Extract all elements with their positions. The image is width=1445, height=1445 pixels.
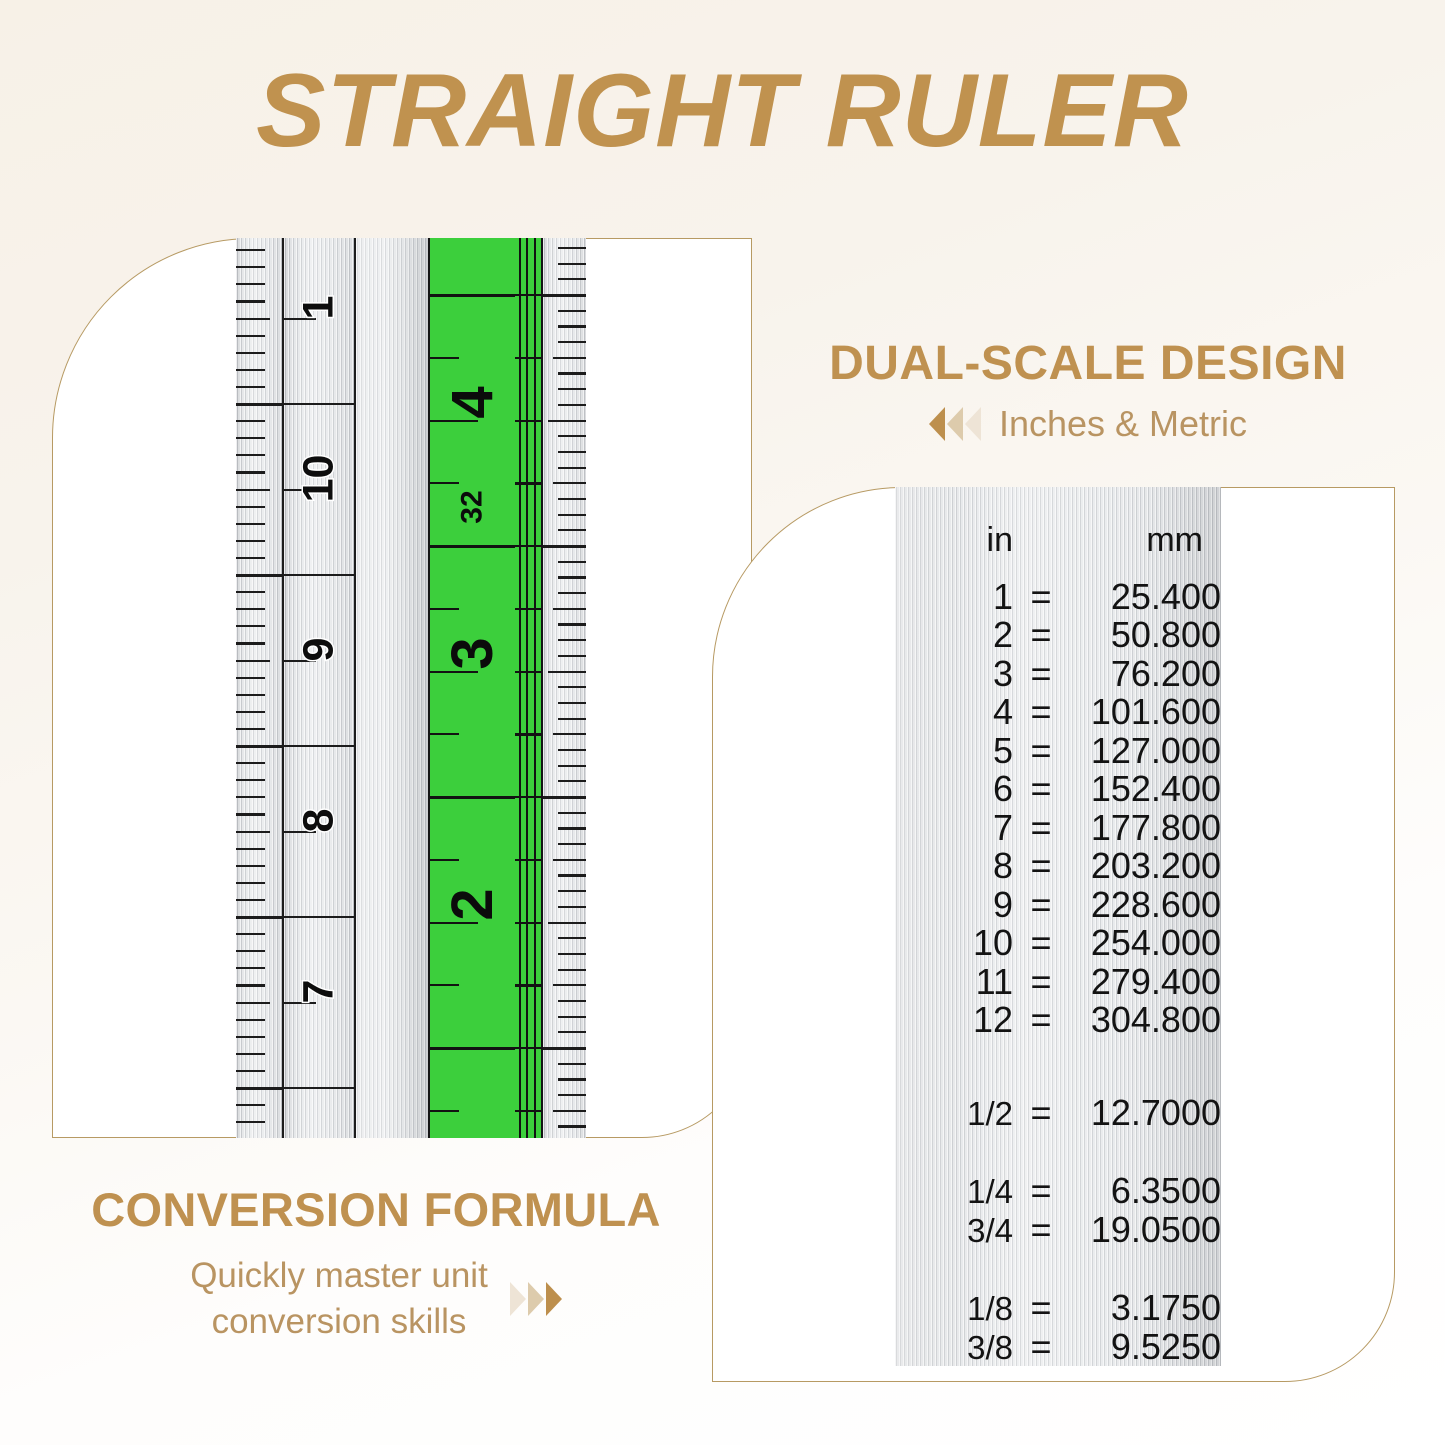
cell-inches: 3/4	[895, 1212, 1013, 1250]
sixteenth-tick	[553, 859, 586, 861]
cell-millimetres: 177.800	[1069, 807, 1221, 849]
metric-tick	[236, 318, 270, 320]
metric-tick	[236, 711, 265, 713]
metric-tick	[236, 540, 265, 542]
metric-tick	[236, 437, 265, 439]
sixteenth-tick	[558, 686, 586, 688]
metric-number: 1	[295, 273, 344, 343]
sixteenth-tick	[558, 388, 586, 390]
cell-equals: =	[1013, 1287, 1069, 1329]
table-gap	[895, 1247, 1221, 1287]
table-row: 8=203.200	[895, 845, 1221, 884]
cell-inches: 3/8	[895, 1329, 1013, 1367]
table-row: 6=152.400	[895, 768, 1221, 807]
cell-millimetres: 25.400	[1069, 576, 1221, 618]
inch-number: 3	[439, 611, 506, 696]
sixteenth-tick	[548, 922, 586, 924]
cell-inches: 1	[895, 576, 1013, 618]
chevron-right-icon	[546, 1282, 562, 1316]
conversion-table: inmm1=25.4002=50.8003=76.2004=101.6005=1…	[895, 487, 1221, 1366]
cell-millimetres: 279.400	[1069, 961, 1221, 1003]
header-millimetres: mm	[1069, 521, 1221, 560]
inch-cross-line	[515, 482, 541, 484]
sixteenth-tick	[558, 1125, 586, 1127]
sixteenth-tick	[558, 1031, 586, 1033]
metric-tick	[236, 386, 265, 388]
dual-scale-subrow: Inches & Metric	[788, 403, 1388, 445]
conversion-table-strip: inmm1=25.4002=50.8003=76.2004=101.6005=1…	[895, 487, 1221, 1366]
inch-quarter-line	[430, 733, 459, 735]
table-row: 3/8=9.5250	[895, 1326, 1221, 1365]
ruler-image: 11098765 43232	[236, 238, 586, 1138]
sixteenth-tick	[558, 263, 586, 265]
metric-tick	[236, 1036, 265, 1038]
inch-rail	[519, 238, 521, 1138]
sixteenth-tick	[558, 623, 586, 625]
cell-inches: 2	[895, 614, 1013, 656]
metric-tick	[236, 984, 265, 986]
inch-quarter-line	[430, 859, 459, 861]
metric-cm-line	[284, 403, 354, 405]
metric-tick	[236, 642, 265, 644]
chevron-right-group	[510, 1282, 562, 1316]
table-row: 12=304.800	[895, 999, 1221, 1038]
sixteenth-tick	[558, 765, 586, 767]
sixteenth-tick	[558, 937, 586, 939]
inch-cross-line	[515, 671, 541, 673]
cell-millimetres: 304.800	[1069, 999, 1221, 1041]
metric-tick	[236, 762, 265, 764]
conversion-subheading: Quickly master unit conversion skills	[190, 1253, 488, 1345]
table-gap	[895, 1038, 1221, 1092]
metric-tick	[236, 1053, 265, 1055]
cell-millimetres: 101.600	[1069, 691, 1221, 733]
inch-tick-field	[541, 238, 586, 1138]
metric-tick	[236, 506, 265, 508]
metric-tick	[236, 352, 265, 354]
sixteenth-tick	[558, 310, 586, 312]
metric-tick	[236, 335, 265, 337]
metric-tick	[236, 831, 270, 833]
cell-equals: =	[1013, 1170, 1069, 1212]
cell-inches: 5	[895, 730, 1013, 772]
table-row: 9=228.600	[895, 884, 1221, 923]
metric-tick	[236, 369, 265, 371]
metric-number-column: 11098765	[282, 238, 356, 1138]
chevron-left-group	[929, 407, 981, 441]
cell-equals: =	[1013, 922, 1069, 964]
cell-equals: =	[1013, 691, 1069, 733]
feature-dual-scale: DUAL-SCALE DESIGN Inches & Metric	[788, 336, 1388, 445]
metric-tick	[236, 403, 282, 406]
sixteenth-tick	[553, 1110, 586, 1112]
table-row: 1/4=6.3500	[895, 1170, 1221, 1209]
metric-cm-line	[284, 1087, 354, 1089]
sixteenth-tick	[543, 1047, 586, 1050]
sixteenth-tick	[558, 890, 586, 892]
sixteenth-tick	[558, 969, 586, 971]
cell-inches: 1/8	[895, 1290, 1013, 1328]
inch-cross-line	[515, 294, 541, 296]
cell-equals: =	[1013, 999, 1069, 1041]
metric-tick	[236, 933, 265, 935]
cell-equals: =	[1013, 768, 1069, 810]
table-row: 2=50.800	[895, 614, 1221, 653]
cell-equals: =	[1013, 884, 1069, 926]
metric-tick	[236, 591, 265, 593]
cell-millimetres: 228.600	[1069, 884, 1221, 926]
inch-cross-line	[515, 545, 541, 547]
metric-tick	[236, 574, 282, 577]
sixteenth-tick	[558, 451, 586, 453]
metric-tick	[236, 1104, 265, 1106]
sixteenth-tick	[558, 435, 586, 437]
inch-number: 4	[439, 360, 506, 445]
metric-number: 9	[295, 615, 344, 685]
sixteenth-tick	[558, 1078, 586, 1080]
cell-inches: 8	[895, 845, 1013, 887]
page-title: STRAIGHT RULER	[0, 52, 1445, 171]
inch-quarter-line	[430, 984, 459, 986]
cell-equals: =	[1013, 653, 1069, 695]
chevron-right-icon	[528, 1282, 544, 1316]
metric-tick	[236, 249, 265, 251]
inch-cross-line	[515, 859, 541, 861]
metric-tick-field	[236, 238, 282, 1138]
table-row: 5=127.000	[895, 730, 1221, 769]
metric-tick	[236, 1019, 265, 1021]
sixteenth-tick	[558, 906, 586, 908]
metric-cm-line	[284, 916, 354, 918]
table-row: 7=177.800	[895, 807, 1221, 846]
cell-inches: 9	[895, 884, 1013, 926]
metric-tick	[236, 266, 265, 268]
table-row: 10=254.000	[895, 922, 1221, 961]
sixteenth-tick	[558, 529, 586, 531]
inch-cross-line	[515, 1110, 541, 1112]
table-header: inmm	[895, 521, 1221, 560]
cell-equals: =	[1013, 614, 1069, 656]
cell-millimetres: 19.0500	[1069, 1209, 1221, 1251]
conversion-heading: CONVERSION FORMULA	[46, 1182, 706, 1237]
conversion-subrow: Quickly master unit conversion skills	[46, 1253, 706, 1345]
cell-equals: =	[1013, 807, 1069, 849]
metric-tick	[236, 677, 265, 679]
sixteenth-tick	[553, 482, 586, 484]
table-row: 1/8=3.1750	[895, 1287, 1221, 1326]
inch-cross-line	[515, 420, 541, 422]
sixteenth-tick	[558, 874, 586, 876]
table-row: 4=101.600	[895, 691, 1221, 730]
sixteenth-tick	[543, 294, 586, 297]
cell-equals: =	[1013, 1209, 1069, 1251]
inch-rail	[526, 238, 528, 1138]
sixteenth-tick	[558, 592, 586, 594]
sixteenth-tick	[553, 733, 586, 735]
table-row: 11=279.400	[895, 961, 1221, 1000]
cell-equals: =	[1013, 1364, 1069, 1366]
inch-line	[430, 294, 515, 297]
inch-rail	[534, 238, 536, 1138]
metric-cm-line	[284, 574, 354, 576]
metric-tick	[236, 557, 265, 559]
metric-tick	[236, 865, 265, 867]
inch-line	[430, 796, 515, 799]
cell-millimetres: 203.200	[1069, 845, 1221, 887]
feature-conversion-formula: CONVERSION FORMULA Quickly master unit c…	[46, 1182, 706, 1345]
metric-tick	[236, 882, 265, 884]
header-inches: in	[895, 521, 1013, 560]
inch-quarter-line	[430, 357, 459, 359]
sixteenth-tick	[553, 984, 586, 986]
chevron-left-icon	[947, 407, 963, 441]
cell-millimetres: 6.3500	[1069, 1170, 1221, 1212]
metric-tick	[236, 489, 270, 491]
inch-scale-green-band: 43232	[428, 238, 515, 1138]
metric-tick	[236, 779, 265, 781]
sixteenth-tick	[548, 671, 586, 673]
sixteenth-tick	[558, 780, 586, 782]
inch-quarter-line	[430, 608, 459, 610]
chevron-left-icon	[929, 407, 945, 441]
cell-equals: =	[1013, 845, 1069, 887]
cell-equals: =	[1013, 1092, 1069, 1134]
sixteenth-tick	[558, 404, 586, 406]
infographic-canvas: STRAIGHT RULER 11098765 43232 DUAL-SCALE…	[0, 0, 1445, 1445]
metric-number: 8	[295, 786, 344, 856]
cell-millimetres: 254.000	[1069, 922, 1221, 964]
metric-number: 6	[295, 1128, 344, 1138]
sixteenth-tick	[558, 1016, 586, 1018]
sixteenth-tick	[558, 843, 586, 845]
metric-tick	[236, 454, 265, 456]
sixteenth-tick	[558, 655, 586, 657]
cell-inches: 6	[895, 768, 1013, 810]
cell-inches: 3	[895, 653, 1013, 695]
sixteenth-tick	[558, 341, 586, 343]
sixteenth-tick	[558, 1094, 586, 1096]
metric-tick	[236, 967, 265, 969]
cell-millimetres: 50.800	[1069, 614, 1221, 656]
cell-millimetres: 15.8750	[1069, 1364, 1221, 1366]
conversion-subheading-line1: Quickly master unit	[190, 1256, 488, 1295]
sixteenth-tick	[553, 357, 586, 359]
sixteenth-tick	[558, 702, 586, 704]
metric-tick	[236, 523, 265, 525]
metric-tick	[236, 728, 265, 730]
cell-millimetres: 3.1750	[1069, 1287, 1221, 1329]
sixteenth-tick	[558, 278, 586, 280]
cell-equals: =	[1013, 961, 1069, 1003]
sixteenth-tick	[543, 796, 586, 799]
inch-cross-line	[515, 357, 541, 359]
inch-cross-line	[515, 608, 541, 610]
cell-inches: 12	[895, 999, 1013, 1041]
metric-tick	[236, 608, 265, 610]
metric-tick	[236, 899, 265, 901]
sixteenth-tick	[558, 247, 586, 249]
dual-scale-heading: DUAL-SCALE DESIGN	[788, 336, 1388, 391]
metric-tick	[236, 1070, 265, 1072]
inch-line	[430, 1047, 515, 1050]
sixteenth-tick	[558, 639, 586, 641]
inch-graduation-label: 32	[456, 464, 490, 549]
metric-cm-line	[284, 745, 354, 747]
sixteenth-tick	[558, 1063, 586, 1065]
metric-tick	[236, 660, 270, 662]
cell-millimetres: 9.5250	[1069, 1326, 1221, 1367]
metric-tick	[236, 813, 265, 815]
metric-tick	[236, 1002, 270, 1004]
plain-aluminium-band	[356, 238, 428, 1138]
cell-inches: 4	[895, 691, 1013, 733]
sixteenth-tick	[553, 608, 586, 610]
inch-cross-line	[515, 922, 541, 924]
sixteenth-tick	[558, 718, 586, 720]
metric-tick	[236, 283, 265, 285]
inch-quarter-line	[430, 1110, 459, 1112]
sixteenth-tick	[558, 467, 586, 469]
cell-inches: 11	[895, 961, 1013, 1003]
metric-tick	[236, 916, 282, 919]
inch-cross-line	[515, 733, 541, 735]
cell-inches: 1/4	[895, 1173, 1013, 1211]
sixteenth-tick	[558, 953, 586, 955]
sixteenth-tick	[558, 372, 586, 374]
inch-cross-line	[515, 1047, 541, 1049]
table-row: 1=25.400	[895, 576, 1221, 615]
sixteenth-tick	[558, 561, 586, 563]
sixteenth-tick	[558, 1000, 586, 1002]
chevron-right-icon	[510, 1282, 526, 1316]
metric-tick	[236, 1087, 282, 1090]
chevron-left-icon	[965, 407, 981, 441]
cell-equals: =	[1013, 1326, 1069, 1367]
sixteenth-tick	[558, 514, 586, 516]
metric-tick	[236, 625, 265, 627]
table-row: 3=76.200	[895, 653, 1221, 692]
dual-scale-subheading: Inches & Metric	[999, 403, 1247, 445]
cell-millimetres: 12.7000	[1069, 1092, 1221, 1134]
inch-rail-gutter	[515, 238, 541, 1138]
sixteenth-tick	[558, 749, 586, 751]
sixteenth-tick	[543, 545, 586, 548]
cell-inches: 7	[895, 807, 1013, 849]
sixteenth-tick	[548, 420, 586, 422]
metric-tick	[236, 300, 265, 302]
cell-equals: =	[1013, 576, 1069, 618]
inch-cross-line	[515, 796, 541, 798]
cell-millimetres: 152.400	[1069, 768, 1221, 810]
conversion-subheading-line2: conversion skills	[212, 1302, 467, 1341]
table-gap	[895, 1130, 1221, 1170]
table-row: 1/2=12.7000	[895, 1092, 1221, 1131]
sixteenth-tick	[558, 827, 586, 829]
table-row: 3/4=19.0500	[895, 1209, 1221, 1248]
metric-number: 10	[295, 444, 344, 514]
sixteenth-tick	[558, 498, 586, 500]
cell-inches: 10	[895, 922, 1013, 964]
metric-tick	[236, 694, 265, 696]
metric-tick	[236, 745, 282, 748]
metric-tick	[236, 950, 265, 952]
metric-tick	[236, 1121, 265, 1123]
metric-tick	[236, 848, 265, 850]
inch-cross-line	[515, 984, 541, 986]
cell-inches: 1/2	[895, 1095, 1013, 1133]
cell-millimetres: 76.200	[1069, 653, 1221, 695]
metric-number: 7	[295, 957, 344, 1027]
sixteenth-tick	[558, 576, 586, 578]
metric-tick	[236, 471, 265, 473]
cell-millimetres: 127.000	[1069, 730, 1221, 772]
sixteenth-tick	[558, 325, 586, 327]
cell-equals: =	[1013, 730, 1069, 772]
metric-tick	[236, 796, 265, 798]
metric-tick	[236, 420, 265, 422]
inch-number: 2	[439, 862, 506, 947]
sixteenth-tick	[558, 812, 586, 814]
